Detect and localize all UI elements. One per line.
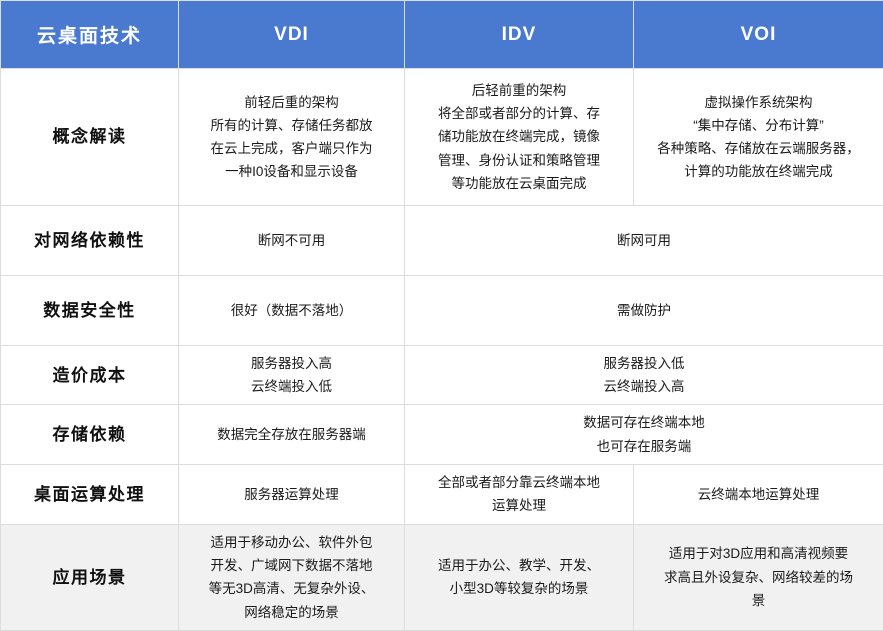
cell-text-line: 景 (644, 589, 873, 612)
table-row: 概念解读前轻后重的架构所有的计算、存储任务都放在云上完成，客户端只作为一种I0设… (1, 69, 883, 206)
cell-text-line: 管理、身份认证和策略管理 (415, 149, 623, 172)
cell-text-line: 求高且外设复杂、网络较差的场 (644, 566, 873, 589)
cell-text: 适用于办公、教学、开发、小型3D等较复杂的场景 (415, 554, 623, 600)
cell-text: 概念解读 (11, 122, 168, 151)
cell-text: 全部或者部分靠云终端本地运算处理 (415, 471, 623, 517)
cell-text-line: 数据完全存放在服务器端 (189, 423, 394, 446)
column-header-voi: VOI (634, 1, 883, 69)
cell-text-line: 云终端投入低 (189, 375, 394, 398)
cell-text-line: 服务器运算处理 (189, 483, 394, 506)
column-header-feature: 云桌面技术 (1, 1, 179, 69)
row-label-应用场景: 应用场景 (1, 524, 179, 630)
cell-idv-voi-merged-造价成本: 服务器投入低云终端投入高 (405, 346, 883, 405)
cell-text-line: 适用于对3D应用和高清视频要 (644, 542, 873, 565)
cell-text-line: 云终端投入高 (415, 375, 873, 398)
cell-text-line: 计算的功能放在终端完成 (644, 160, 873, 183)
cell-vdi-对网络依赖性: 断网不可用 (179, 206, 405, 276)
cell-vdi-桌面运算处理: 服务器运算处理 (179, 464, 405, 524)
table-header: 云桌面技术 VDI IDV VOI (1, 1, 883, 69)
cell-text: 服务器运算处理 (189, 483, 394, 506)
cell-text: 数据完全存放在服务器端 (189, 423, 394, 446)
cell-text: 云终端本地运算处理 (644, 483, 873, 506)
cell-text: 断网可用 (415, 229, 873, 252)
row-label-对网络依赖性: 对网络依赖性 (1, 206, 179, 276)
table-row: 数据安全性很好（数据不落地）需做防护 (1, 276, 883, 346)
cell-text-line: 很好（数据不落地） (189, 299, 394, 322)
cell-text-line: 将全部或者部分的计算、存 (415, 102, 623, 125)
cell-text: 应用场景 (11, 563, 168, 592)
column-header-idv: IDV (405, 1, 634, 69)
cell-text: 对网络依赖性 (11, 226, 168, 255)
cell-text-line: 在云上完成，客户端只作为 (189, 137, 394, 160)
row-label-桌面运算处理: 桌面运算处理 (1, 464, 179, 524)
cell-text: 断网不可用 (189, 229, 394, 252)
cell-text-line: 各种策略、存储放在云端服务器， (644, 137, 873, 160)
cell-text-line: 存储依赖 (11, 420, 168, 449)
cell-text-line: 造价成本 (11, 361, 168, 390)
cell-text-line: 需做防护 (415, 299, 873, 322)
cell-text-line: 应用场景 (11, 563, 168, 592)
cell-text-line: 运算处理 (415, 494, 623, 517)
cell-text-line: “集中存储、分布计算” (644, 114, 873, 137)
column-header-vdi: VDI (179, 1, 405, 69)
table-row: 桌面运算处理服务器运算处理全部或者部分靠云终端本地运算处理云终端本地运算处理 (1, 464, 883, 524)
cell-text-line: 数据安全性 (11, 296, 168, 325)
cell-text-line: 概念解读 (11, 122, 168, 151)
cell-text: 数据可存在终端本地也可存在服务端 (415, 411, 873, 457)
table-body: 概念解读前轻后重的架构所有的计算、存储任务都放在云上完成，客户端只作为一种I0设… (1, 69, 883, 631)
cell-text-line: 适用于办公、教学、开发、 (415, 554, 623, 577)
cell-text-line: 断网不可用 (189, 229, 394, 252)
cell-text-line: 开发、广域网下数据不落地 (189, 554, 394, 577)
cell-text-line: 所有的计算、存储任务都放 (189, 114, 394, 137)
cell-idv-voi-merged-数据安全性: 需做防护 (405, 276, 883, 346)
cell-idv-概念解读: 后轻前重的架构将全部或者部分的计算、存储功能放在终端完成，镜像管理、身份认证和策… (405, 69, 634, 206)
cell-voi-概念解读: 虚拟操作系统架构“集中存储、分布计算”各种策略、存储放在云端服务器，计算的功能放… (634, 69, 883, 206)
row-label-数据安全性: 数据安全性 (1, 276, 179, 346)
cell-text-line: 数据可存在终端本地 (415, 411, 873, 434)
table-row: 造价成本服务器投入高云终端投入低服务器投入低云终端投入高 (1, 346, 883, 405)
cell-text-line: 等无3D高清、无复杂外设、 (189, 577, 394, 600)
cell-idv-voi-merged-对网络依赖性: 断网可用 (405, 206, 883, 276)
cell-text-line: 适用于移动办公、软件外包 (189, 531, 394, 554)
cell-text: 适用于移动办公、软件外包开发、广域网下数据不落地等无3D高清、无复杂外设、网络稳… (189, 531, 394, 624)
cell-vdi-概念解读: 前轻后重的架构所有的计算、存储任务都放在云上完成，客户端只作为一种I0设备和显示… (179, 69, 405, 206)
row-label-存储依赖: 存储依赖 (1, 405, 179, 464)
cell-vdi-存储依赖: 数据完全存放在服务器端 (179, 405, 405, 464)
cell-voi-应用场景: 适用于对3D应用和高清视频要求高且外设复杂、网络较差的场景 (634, 524, 883, 630)
cell-text: 需做防护 (415, 299, 873, 322)
cell-text: 存储依赖 (11, 420, 168, 449)
cell-text: 服务器投入高云终端投入低 (189, 352, 394, 398)
cell-text-line: 也可存在服务端 (415, 435, 873, 458)
cell-text: 后轻前重的架构将全部或者部分的计算、存储功能放在终端完成，镜像管理、身份认证和策… (415, 79, 623, 195)
cell-text-line: 前轻后重的架构 (189, 91, 394, 114)
cloud-desktop-comparison-table: 云桌面技术 VDI IDV VOI 概念解读前轻后重的架构所有的计算、存储任务都… (0, 0, 883, 631)
cell-idv-桌面运算处理: 全部或者部分靠云终端本地运算处理 (405, 464, 634, 524)
cell-text-line: 网络稳定的场景 (189, 601, 394, 624)
cell-text-line: 断网可用 (415, 229, 873, 252)
header-row: 云桌面技术 VDI IDV VOI (1, 1, 883, 69)
cell-text: 服务器投入低云终端投入高 (415, 352, 873, 398)
cell-text-line: 云终端本地运算处理 (644, 483, 873, 506)
cell-text: 造价成本 (11, 361, 168, 390)
cell-text-line: 虚拟操作系统架构 (644, 91, 873, 114)
cell-idv-voi-merged-存储依赖: 数据可存在终端本地也可存在服务端 (405, 405, 883, 464)
cell-text: 数据安全性 (11, 296, 168, 325)
cell-vdi-数据安全性: 很好（数据不落地） (179, 276, 405, 346)
cell-text: 前轻后重的架构所有的计算、存储任务都放在云上完成，客户端只作为一种I0设备和显示… (189, 91, 394, 184)
cell-text-line: 服务器投入高 (189, 352, 394, 375)
cell-text: 桌面运算处理 (11, 480, 168, 509)
cell-text: 很好（数据不落地） (189, 299, 394, 322)
row-label-概念解读: 概念解读 (1, 69, 179, 206)
cell-text-line: 全部或者部分靠云终端本地 (415, 471, 623, 494)
table-row: 应用场景适用于移动办公、软件外包开发、广域网下数据不落地等无3D高清、无复杂外设… (1, 524, 883, 630)
cell-idv-应用场景: 适用于办公、教学、开发、小型3D等较复杂的场景 (405, 524, 634, 630)
cell-vdi-应用场景: 适用于移动办公、软件外包开发、广域网下数据不落地等无3D高清、无复杂外设、网络稳… (179, 524, 405, 630)
cell-text-line: 桌面运算处理 (11, 480, 168, 509)
table-row: 存储依赖数据完全存放在服务器端数据可存在终端本地也可存在服务端 (1, 405, 883, 464)
table-row: 对网络依赖性断网不可用断网可用 (1, 206, 883, 276)
cell-voi-桌面运算处理: 云终端本地运算处理 (634, 464, 883, 524)
cell-vdi-造价成本: 服务器投入高云终端投入低 (179, 346, 405, 405)
cell-text-line: 一种I0设备和显示设备 (189, 160, 394, 183)
cell-text: 虚拟操作系统架构“集中存储、分布计算”各种策略、存储放在云端服务器，计算的功能放… (644, 91, 873, 184)
cell-text-line: 后轻前重的架构 (415, 79, 623, 102)
cell-text-line: 服务器投入低 (415, 352, 873, 375)
cell-text-line: 对网络依赖性 (11, 226, 168, 255)
cell-text: 适用于对3D应用和高清视频要求高且外设复杂、网络较差的场景 (644, 542, 873, 612)
cell-text-line: 储功能放在终端完成，镜像 (415, 125, 623, 148)
cell-text-line: 等功能放在云桌面完成 (415, 172, 623, 195)
cell-text-line: 小型3D等较复杂的场景 (415, 577, 623, 600)
row-label-造价成本: 造价成本 (1, 346, 179, 405)
